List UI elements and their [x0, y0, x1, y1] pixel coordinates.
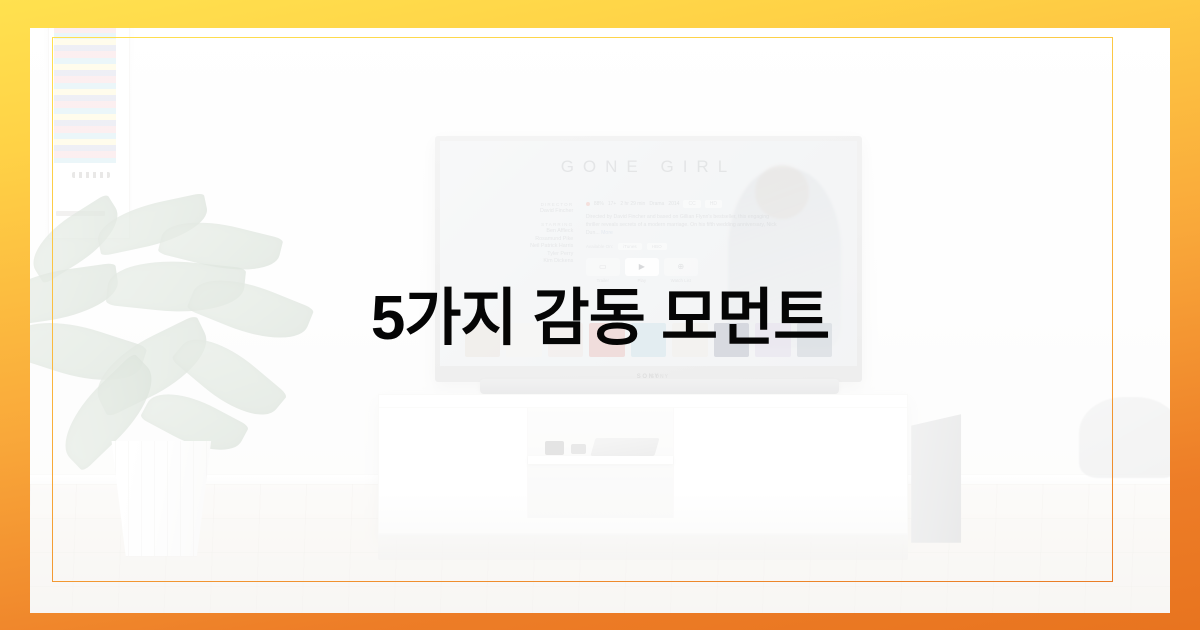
television: GONE GIRL DIRECTOR David Fincher STARRIN…	[435, 136, 863, 382]
poster-5[interactable]	[631, 323, 666, 357]
art-stripes	[54, 28, 116, 163]
watch-list-button-label: Watch List	[664, 278, 698, 283]
photo-plate: GONE GIRL DIRECTOR David Fincher STARRIN…	[30, 28, 1170, 613]
poster-8[interactable]	[755, 323, 790, 357]
console-top-surface	[379, 395, 907, 407]
console-niche	[527, 408, 675, 519]
provider-itunes[interactable]: iTunes	[618, 243, 642, 250]
poster-7[interactable]	[714, 323, 749, 357]
available-on-label: Available On:	[586, 244, 613, 249]
tv-console	[378, 394, 908, 534]
watch-list-button[interactable]: ⊕ Watch List	[664, 258, 698, 283]
director-label: DIRECTOR	[465, 202, 574, 207]
playback-buttons: ▭ Trailer ▶ Play	[586, 258, 778, 283]
soundbar-brand-logo: SONY	[651, 374, 669, 380]
audio-tag: HD	[705, 200, 722, 208]
potted-plant	[30, 204, 304, 543]
trailer-button-box[interactable]: ▭	[586, 258, 620, 276]
poster-3[interactable]	[548, 323, 583, 357]
floor-speaker	[911, 414, 961, 543]
poster-strip	[465, 323, 832, 357]
tv-screen: GONE GIRL DIRECTOR David Fincher STARRIN…	[440, 141, 858, 366]
rating-value: 17+	[608, 201, 616, 207]
console-shelf	[528, 456, 674, 464]
remote-control	[545, 441, 564, 455]
play-button-box[interactable]: ▶	[625, 258, 659, 276]
year-value: 2014	[668, 201, 679, 207]
movie-badges: 88% 17+ 2 hr 29 min Drama 2014 CC HD	[586, 200, 778, 208]
genre-value: Drama	[649, 201, 664, 207]
movie-synopsis: Directed by David Fincher and based on G…	[586, 213, 778, 237]
watch-list-button-box[interactable]: ⊕	[664, 258, 698, 276]
score-dot-icon	[586, 202, 590, 206]
console-tray	[591, 438, 660, 456]
thumbnail-card: GONE GIRL DIRECTOR David Fincher STARRIN…	[0, 0, 1200, 630]
runtime-value: 2 hr 29 min	[620, 201, 645, 207]
trailer-button-label: Trailer	[586, 278, 620, 283]
soundbar: SONY	[480, 379, 839, 394]
art-signature	[72, 172, 110, 179]
trailer-button[interactable]: ▭ Trailer	[586, 258, 620, 283]
poster-2[interactable]	[506, 323, 541, 357]
tv-bezel: GONE GIRL DIRECTOR David Fincher STARRIN…	[435, 136, 863, 382]
movie-credits: DIRECTOR David Fincher STARRING Ben Affl…	[465, 202, 574, 266]
media-device	[571, 444, 586, 454]
starring-label: STARRING	[465, 222, 574, 227]
caption-tag: CC	[683, 200, 700, 208]
synopsis-text: Directed by David Fincher and based on G…	[586, 214, 777, 236]
more-link[interactable]: More	[601, 230, 613, 236]
play-button-label: Play	[625, 278, 659, 283]
poster-9[interactable]	[797, 323, 832, 357]
plant-pot	[102, 441, 221, 556]
movie-title: GONE GIRL	[561, 157, 736, 177]
ottoman	[1079, 397, 1170, 479]
poster-4[interactable]	[589, 323, 624, 357]
living-room-scene: GONE GIRL DIRECTOR David Fincher STARRIN…	[30, 28, 1170, 613]
trailer-icon: ▭	[599, 263, 607, 271]
play-button[interactable]: ▶ Play	[625, 258, 659, 283]
starring-value: Ben Affleck Rosamund Pike Neil Patrick H…	[465, 228, 574, 265]
provider-hbo[interactable]: HBO	[647, 243, 667, 250]
director-value: David Fincher	[465, 208, 574, 215]
play-icon: ▶	[639, 263, 645, 271]
poster-1[interactable]	[465, 323, 500, 357]
movie-info: 88% 17+ 2 hr 29 min Drama 2014 CC HD Dir…	[586, 200, 778, 283]
plus-circle-icon: ⊕	[677, 263, 684, 271]
score-value: 88%	[594, 201, 604, 207]
available-on-row: Available On: iTunes HBO	[586, 243, 778, 250]
console-plinth	[378, 533, 908, 560]
poster-6[interactable]	[672, 323, 707, 357]
